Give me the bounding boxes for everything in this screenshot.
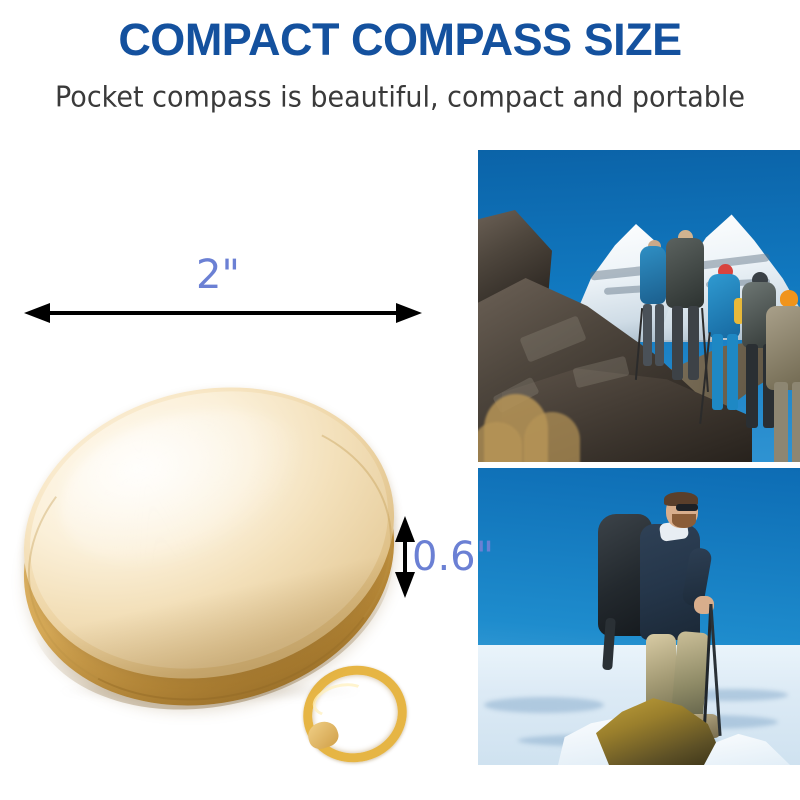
width-dimension-arrow <box>24 303 422 323</box>
trekking-pole <box>635 308 643 380</box>
width-dimension-label: 2" <box>196 252 240 298</box>
trekker-backpack <box>766 306 800 390</box>
page-subtitle: Pocket compass is beautiful, compact and… <box>0 81 800 113</box>
trekker-leg <box>688 306 699 380</box>
trekker-backpack <box>640 246 666 304</box>
sunglasses-icon <box>676 504 698 511</box>
infographic-canvas: COMPACT COMPASS SIZE Pocket compass is b… <box>0 0 800 800</box>
trekker-head-orange-cap <box>780 290 798 307</box>
trekker-leg <box>774 382 788 462</box>
height-dimension-label: 0.6" <box>412 534 494 580</box>
hiker-beard <box>672 514 696 528</box>
trekker-leg <box>655 304 664 366</box>
trekker-leg <box>746 344 758 428</box>
trekker-leg <box>712 334 723 410</box>
page-title: COMPACT COMPASS SIZE <box>0 14 800 66</box>
trekker-leg <box>672 306 683 380</box>
trekker-leg <box>727 334 738 410</box>
snow-shadow <box>484 697 604 713</box>
product-compass <box>0 330 460 730</box>
lanyard-ring-icon <box>293 655 417 773</box>
trekker-leg <box>643 304 652 366</box>
lifestyle-photo-summit-hiker <box>478 468 800 765</box>
dry-grass-tuft <box>524 412 580 462</box>
trekker-figure <box>764 290 800 462</box>
backpack-strap <box>602 618 616 671</box>
trekker-backpack <box>666 238 704 308</box>
trekker-leg <box>792 382 800 462</box>
lifestyle-photo-trekkers <box>478 150 800 462</box>
